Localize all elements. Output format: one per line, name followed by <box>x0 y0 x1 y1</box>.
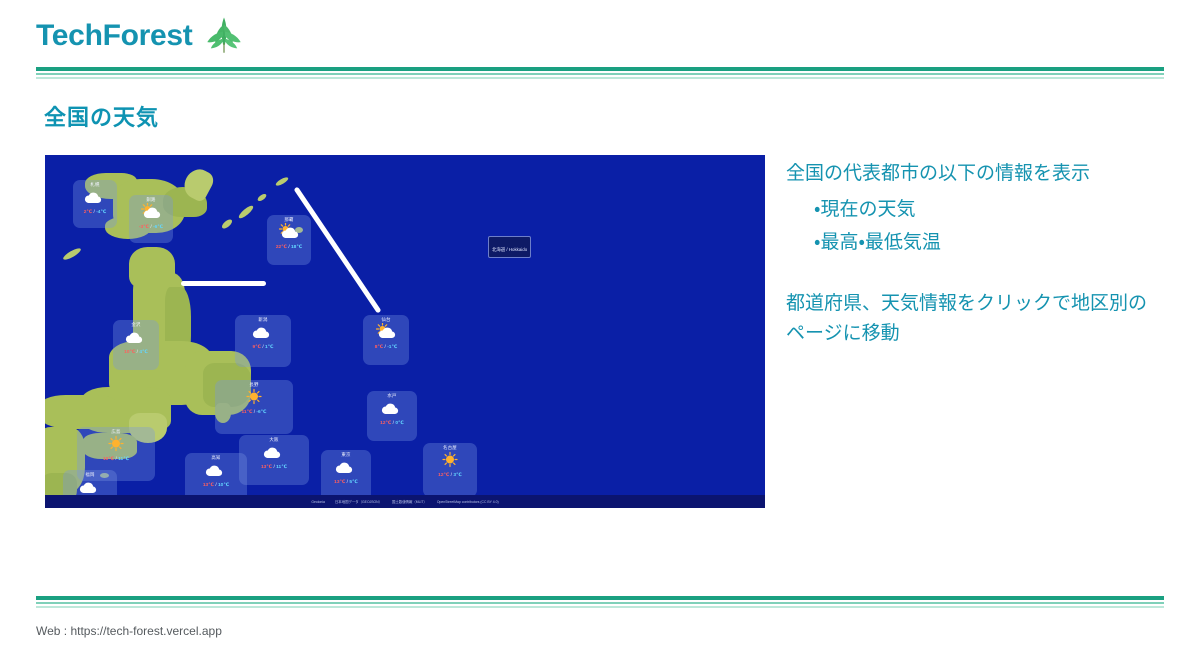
header-rule-secondary <box>36 73 1164 75</box>
cloud-icon <box>252 323 274 345</box>
brand-logo: TechForest <box>36 14 246 58</box>
brand-name: TechForest <box>36 21 192 51</box>
cannabis-leaf-icon <box>202 14 246 58</box>
weather-card-temperature: 8℃ / -1℃ <box>375 346 398 351</box>
weather-card-kushiro[interactable]: 釧路-3℃ / -6℃ <box>129 195 173 243</box>
cloud-icon <box>381 399 403 421</box>
weather-card-sendai[interactable]: 仙台8℃ / -1℃ <box>363 315 409 365</box>
weather-card-temperature: 13℃ / 10℃ <box>203 484 229 489</box>
weather-card-temperature: 22℃ / 18℃ <box>276 246 302 251</box>
weather-card-city-name: 那覇 <box>284 218 293 222</box>
map-attribution-bar: Geolonia 日本地図データ（GEOJSON） 国土数値情報（MLIT） O… <box>45 495 765 508</box>
weather-card-temperature: 12℃ / 3℃ <box>438 474 462 479</box>
description-paragraph: 都道府県、天気情報をクリックで地区別のページに移動 <box>786 289 1156 350</box>
temperature-low: 11℃ <box>276 465 287 470</box>
temperature-low: 11℃ <box>118 457 129 462</box>
temperature-high: 13℃ <box>334 480 345 485</box>
temperature-low: -6℃ <box>153 225 163 230</box>
cloud-icon <box>263 443 285 465</box>
header-rule-tertiary <box>36 77 1164 79</box>
footer-rule-tertiary <box>36 606 1164 608</box>
map-attribution-3[interactable]: OpenStreetMap contributors (CC BY 4.0) <box>437 500 499 504</box>
weather-card-temperature: -3℃ / -6℃ <box>139 226 163 231</box>
cloud-icon <box>84 188 106 210</box>
weather-card-city-name: 釧路 <box>146 198 155 202</box>
weather-card-city-name: 高知 <box>211 456 220 460</box>
temperature-high: 13℃ <box>203 483 214 488</box>
slide-canvas: TechForest 全国の天気 <box>0 0 1200 672</box>
temperature-high: 9℃ <box>253 345 261 350</box>
weather-card-osaka[interactable]: 大阪13℃ / 11℃ <box>239 435 309 485</box>
weather-card-city-name: 広島 <box>111 430 120 434</box>
prefecture-tooltip-label: 北海道 / Hokkaido <box>492 247 527 252</box>
temperature-high: 2℃ <box>84 210 92 215</box>
footer-rule-primary <box>36 596 1164 600</box>
sun-icon <box>243 388 265 410</box>
cloud-icon <box>205 461 227 483</box>
sun-cloud-icon <box>375 323 397 345</box>
temperature-high: 8℃ <box>375 345 383 350</box>
description-bullet-1: ・最高・最低気温 <box>814 226 1156 259</box>
weather-card-kanazawa[interactable]: 金沢10℃ / 4℃ <box>113 320 159 370</box>
weather-card-city-name: 金沢 <box>131 323 140 327</box>
sun-cloud-icon <box>140 203 162 225</box>
weather-card-niigata[interactable]: 新潟9℃ / 1℃ <box>235 315 291 367</box>
sun-cloud-icon <box>278 223 300 245</box>
landmass-chugoku <box>45 395 117 429</box>
weather-card-city-name: 大阪 <box>269 438 278 442</box>
cloud-icon <box>335 458 357 480</box>
temperature-low: 5℃ <box>349 480 357 485</box>
weather-card-city-name: 東京 <box>341 453 350 457</box>
temperature-high: 22℃ <box>276 245 287 250</box>
inset-divider-horizontal <box>181 281 266 286</box>
weather-card-sapporo[interactable]: 札幌2℃ / -4℃ <box>73 180 117 228</box>
weather-card-city-name: 名古屋 <box>443 446 457 450</box>
temperature-low: -1℃ <box>387 345 397 350</box>
header-divider <box>36 67 1164 79</box>
temperature-high: 12℃ <box>438 473 449 478</box>
footer-website-url[interactable]: Web : https://tech-forest.vercel.app <box>36 624 222 638</box>
weather-card-temperature: 9℃ / 1℃ <box>253 346 274 351</box>
temperature-low: -6℃ <box>256 410 266 415</box>
description-lead: 全国の代表都市の以下の情報を表示 <box>786 160 1156 189</box>
weather-card-nagoya[interactable]: 名古屋12℃ / 3℃ <box>423 443 477 497</box>
page-title: 全国の天気 <box>44 100 159 132</box>
map-attribution-0[interactable]: Geolonia <box>311 500 325 504</box>
temperature-high: 10℃ <box>103 457 114 462</box>
weather-card-city-name: 水戸 <box>387 394 396 398</box>
weather-card-temperature: 12℃ / 0℃ <box>380 422 404 427</box>
description-bullet-0: ・現在の天気 <box>814 193 1156 226</box>
weather-card-city-name: 長野 <box>249 383 258 387</box>
temperature-low: -4℃ <box>96 210 106 215</box>
temperature-low: 3℃ <box>453 473 461 478</box>
sun-icon <box>439 451 461 473</box>
header-rule-primary <box>36 67 1164 71</box>
weather-card-temperature: 10℃ / 11℃ <box>103 458 129 463</box>
sun-icon <box>105 435 127 457</box>
footer-divider <box>36 596 1164 608</box>
weather-card-city-name: 仙台 <box>381 318 390 322</box>
weather-card-temperature: 11℃ / -6℃ <box>242 411 267 416</box>
weather-map-screenshot[interactable]: 北海道 / Hokkaido 札幌2℃ / -4℃釧路-3℃ / -6℃那覇22… <box>45 155 765 508</box>
temperature-high: -3℃ <box>139 225 149 230</box>
temperature-low: 10℃ <box>218 483 229 488</box>
prefecture-tooltip: 北海道 / Hokkaido <box>488 236 531 258</box>
temperature-high: 13℃ <box>261 465 272 470</box>
temperature-low: 18℃ <box>291 245 302 250</box>
temperature-high: 10℃ <box>124 350 135 355</box>
cloud-icon <box>125 328 147 350</box>
weather-card-temperature: 10℃ / 4℃ <box>124 351 148 356</box>
temperature-low: 0℃ <box>395 421 403 426</box>
weather-card-city-name: 福岡 <box>85 473 94 477</box>
weather-card-city-name: 札幌 <box>90 183 99 187</box>
temperature-low: 4℃ <box>139 350 147 355</box>
temperature-high: 11℃ <box>242 410 253 415</box>
description-bullet-list: ・現在の天気 ・最高・最低気温 <box>786 193 1156 260</box>
description-block: 全国の代表都市の以下の情報を表示 ・現在の天気 ・最高・最低気温 都道府県、天気… <box>786 160 1156 369</box>
weather-card-temperature: 13℃ / 11℃ <box>261 466 287 471</box>
weather-card-temperature: 13℃ / 5℃ <box>334 481 358 486</box>
temperature-low: 1℃ <box>265 345 273 350</box>
temperature-high: 12℃ <box>380 421 391 426</box>
weather-card-temperature: 2℃ / -4℃ <box>84 211 107 216</box>
weather-card-naha[interactable]: 那覇22℃ / 18℃ <box>267 215 311 265</box>
weather-card-nagano[interactable]: 長野11℃ / -6℃ <box>215 380 293 434</box>
map-attribution-2[interactable]: 国土数値情報（MLIT） <box>392 499 427 504</box>
map-attribution-1[interactable]: 日本地図データ（GEOJSON） <box>335 499 382 504</box>
weather-card-mito[interactable]: 水戸12℃ / 0℃ <box>367 391 417 441</box>
weather-card-city-name: 新潟 <box>258 318 267 322</box>
footer-rule-secondary <box>36 602 1164 604</box>
